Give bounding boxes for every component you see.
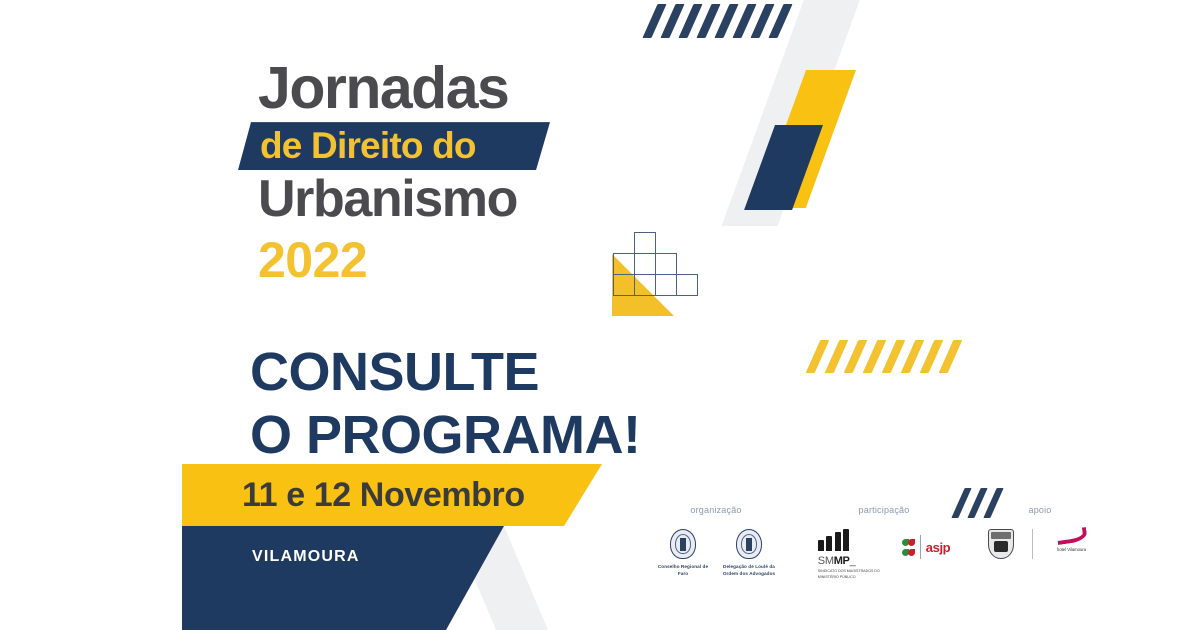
date-label: 11 e 12 Novembro bbox=[242, 464, 525, 526]
bar-association-seal-icon bbox=[736, 529, 762, 559]
smmp-prefix: SM bbox=[818, 555, 834, 567]
yellow-diagonal-stripes bbox=[813, 340, 955, 373]
title-band: de Direito do bbox=[238, 122, 550, 170]
municipal-coat-of-arms-icon bbox=[988, 529, 1014, 559]
title-band-label: de Direito do bbox=[238, 122, 550, 170]
staircase-grid-motif bbox=[612, 232, 698, 316]
logo-caption: hotel Vilamoura bbox=[1057, 547, 1086, 553]
apoio-label: apoio bbox=[1028, 505, 1051, 515]
date-banner: 11 e 12 Novembro bbox=[182, 464, 602, 526]
bar-chart-icon bbox=[818, 529, 850, 551]
smmp-wordmark: SMMP_ bbox=[818, 555, 856, 567]
event-title-block: Jornadas de Direito do Urbanismo 2022 bbox=[258, 58, 550, 288]
navy-diagonal-stripes-top bbox=[650, 4, 785, 38]
logo-caption: Conselho Regional de Faro bbox=[655, 564, 711, 578]
partner-group-apoio: apoio hotel Vilamoura bbox=[986, 505, 1094, 581]
partner-group-participacao: participação SMMP_ SINDICATO DOS MAGISTR… bbox=[796, 505, 972, 581]
cta-line-1: CONSULTE bbox=[250, 341, 640, 404]
organizacao-logos: Conselho Regional de Faro Delegação de L… bbox=[655, 529, 777, 578]
leaf-top bbox=[902, 539, 915, 546]
cta-headline: CONSULTE O PROGRAMA! bbox=[250, 341, 640, 466]
apoio-logos: hotel Vilamoura bbox=[988, 529, 1093, 559]
logo-conselho-regional-faro: Conselho Regional de Faro bbox=[655, 529, 711, 578]
logo-hotel: hotel Vilamoura bbox=[1051, 529, 1093, 553]
city-banner: VILAMOURA bbox=[182, 526, 504, 630]
city-label: VILAMOURA bbox=[252, 548, 360, 566]
crest-shield bbox=[994, 541, 1008, 552]
logo-delegacao-loule: Delegação de Loulé da Ordem dos Advogado… bbox=[721, 529, 777, 578]
title-line-1: Jornadas bbox=[258, 58, 550, 118]
asjp-divider bbox=[920, 535, 921, 559]
partner-group-organizacao: organização Conselho Regional de Faro De… bbox=[652, 505, 780, 581]
smmp-subtitle: SINDICATO DOS MAGISTRADOS DO MINISTÉRIO … bbox=[818, 569, 884, 581]
logo-caption: Delegação de Loulé da Ordem dos Advogado… bbox=[721, 564, 777, 578]
apoio-divider bbox=[1032, 529, 1033, 559]
event-year: 2022 bbox=[258, 233, 550, 288]
crest-crown bbox=[991, 532, 1011, 539]
participacao-label: participação bbox=[859, 505, 910, 515]
title-line-2: Urbanismo bbox=[258, 172, 550, 227]
cta-line-2: O PROGRAMA! bbox=[250, 404, 640, 467]
swoosh-icon bbox=[1056, 527, 1088, 545]
asjp-leaf-icon bbox=[902, 539, 915, 556]
poster-canvas: Jornadas de Direito do Urbanismo 2022 CO… bbox=[0, 0, 1200, 630]
asjp-wordmark: asjp bbox=[926, 540, 950, 555]
logo-smmp: SMMP_ SINDICATO DOS MAGISTRADOS DO MINIS… bbox=[818, 529, 884, 581]
bar-association-seal-icon bbox=[670, 529, 696, 559]
participacao-logos: SMMP_ SINDICATO DOS MAGISTRADOS DO MINIS… bbox=[818, 529, 950, 581]
leaf-bottom bbox=[902, 549, 915, 556]
organizacao-label: organização bbox=[690, 505, 741, 515]
logo-asjp: asjp bbox=[902, 529, 950, 559]
partner-logos: organização Conselho Regional de Faro De… bbox=[652, 505, 1094, 581]
smmp-bold: MP bbox=[834, 555, 850, 567]
smmp-suffix: _ bbox=[850, 555, 856, 567]
